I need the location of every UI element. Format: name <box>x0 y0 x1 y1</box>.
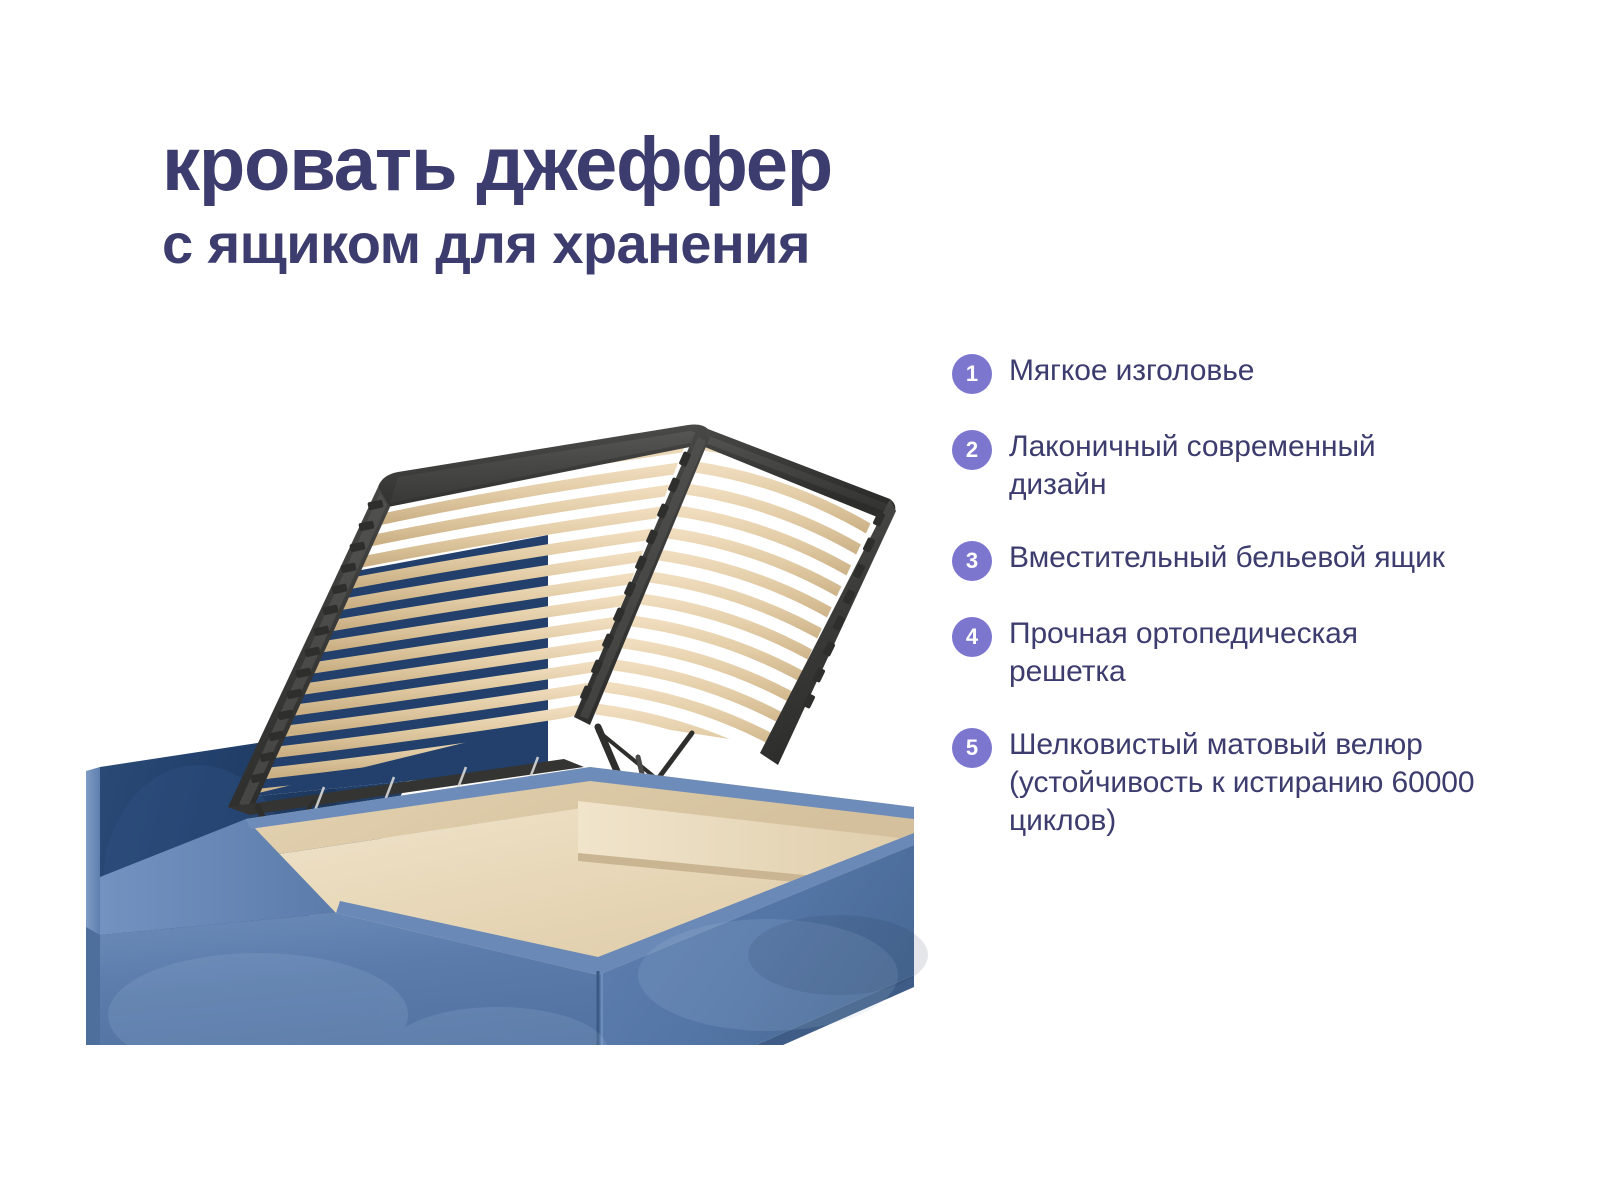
list-item: 5 Шелковистый матовый велюр (устойчивост… <box>952 726 1512 841</box>
product-infographic: кровать джеффер с ящиком для хранения 1 … <box>0 0 1600 1200</box>
product-image-bed <box>78 415 968 1045</box>
feature-label: Вместительный бельевой ящик <box>1009 539 1445 577</box>
feature-list: 1 Мягкое изголовье 2 Лаконичный современ… <box>952 352 1512 875</box>
feature-label: Лаконичный современный дизайн <box>1009 428 1479 505</box>
list-item: 1 Мягкое изголовье <box>952 352 1512 394</box>
bed-illustration-svg <box>78 415 968 1045</box>
page-subtitle: с ящиком для хранения <box>162 216 1062 272</box>
feature-label: Шелковистый матовый велюр (устойчивость … <box>1009 726 1479 841</box>
feature-label: Прочная ортопедическая решетка <box>1009 615 1479 692</box>
page-title: кровать джеффер <box>162 128 1062 202</box>
list-item: 3 Вместительный бельевой ящик <box>952 539 1512 581</box>
feature-label: Мягкое изголовье <box>1009 352 1254 390</box>
heading-block: кровать джеффер с ящиком для хранения <box>162 128 1062 272</box>
list-item: 4 Прочная ортопедическая решетка <box>952 615 1512 692</box>
feature-number-badge: 1 <box>952 354 992 394</box>
list-item: 2 Лаконичный современный дизайн <box>952 428 1512 505</box>
headboard-base-edge <box>86 927 100 1045</box>
